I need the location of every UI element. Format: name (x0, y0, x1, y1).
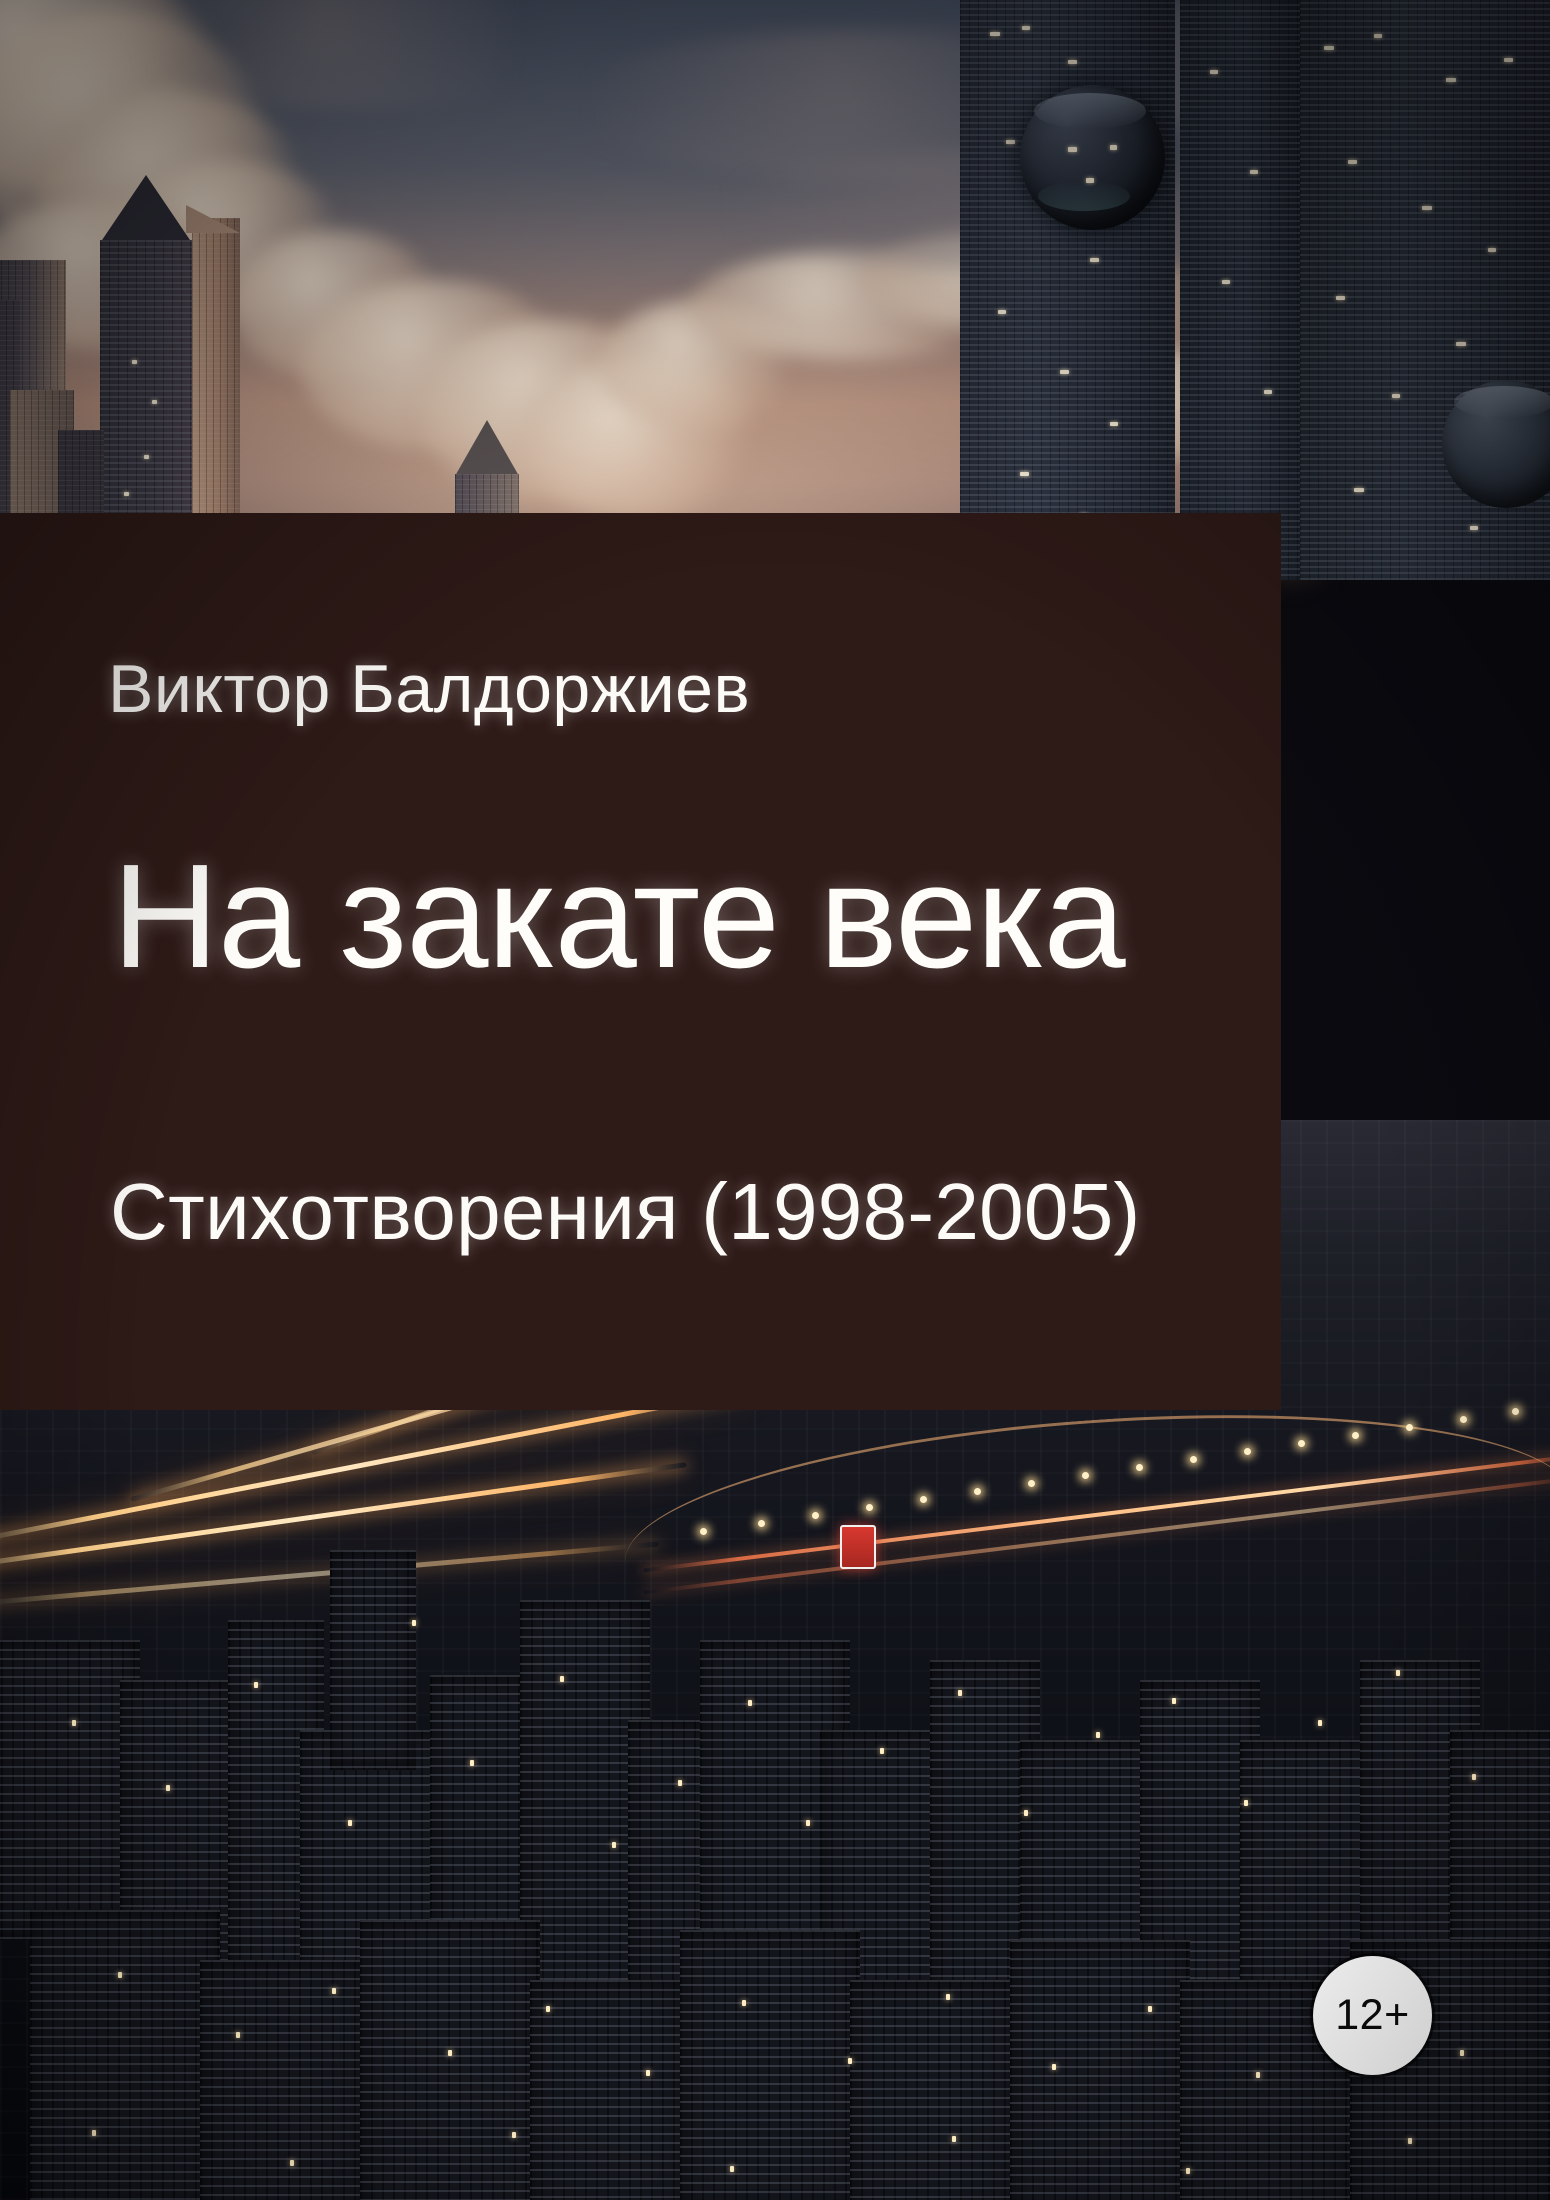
age-rating-label: 12+ (1335, 1991, 1409, 2040)
book-title: На закате века (112, 832, 1125, 1002)
author-name: Виктор Балдоржиев (108, 650, 750, 728)
book-cover: Виктор Балдоржиев На закате века Стихотв… (0, 0, 1550, 2200)
sphere-structure (1020, 85, 1165, 230)
age-rating-badge: 12+ (1313, 1956, 1432, 2075)
book-subtitle: Стихотворения (1998-2005) (110, 1166, 1140, 1258)
billboard (840, 1525, 876, 1569)
